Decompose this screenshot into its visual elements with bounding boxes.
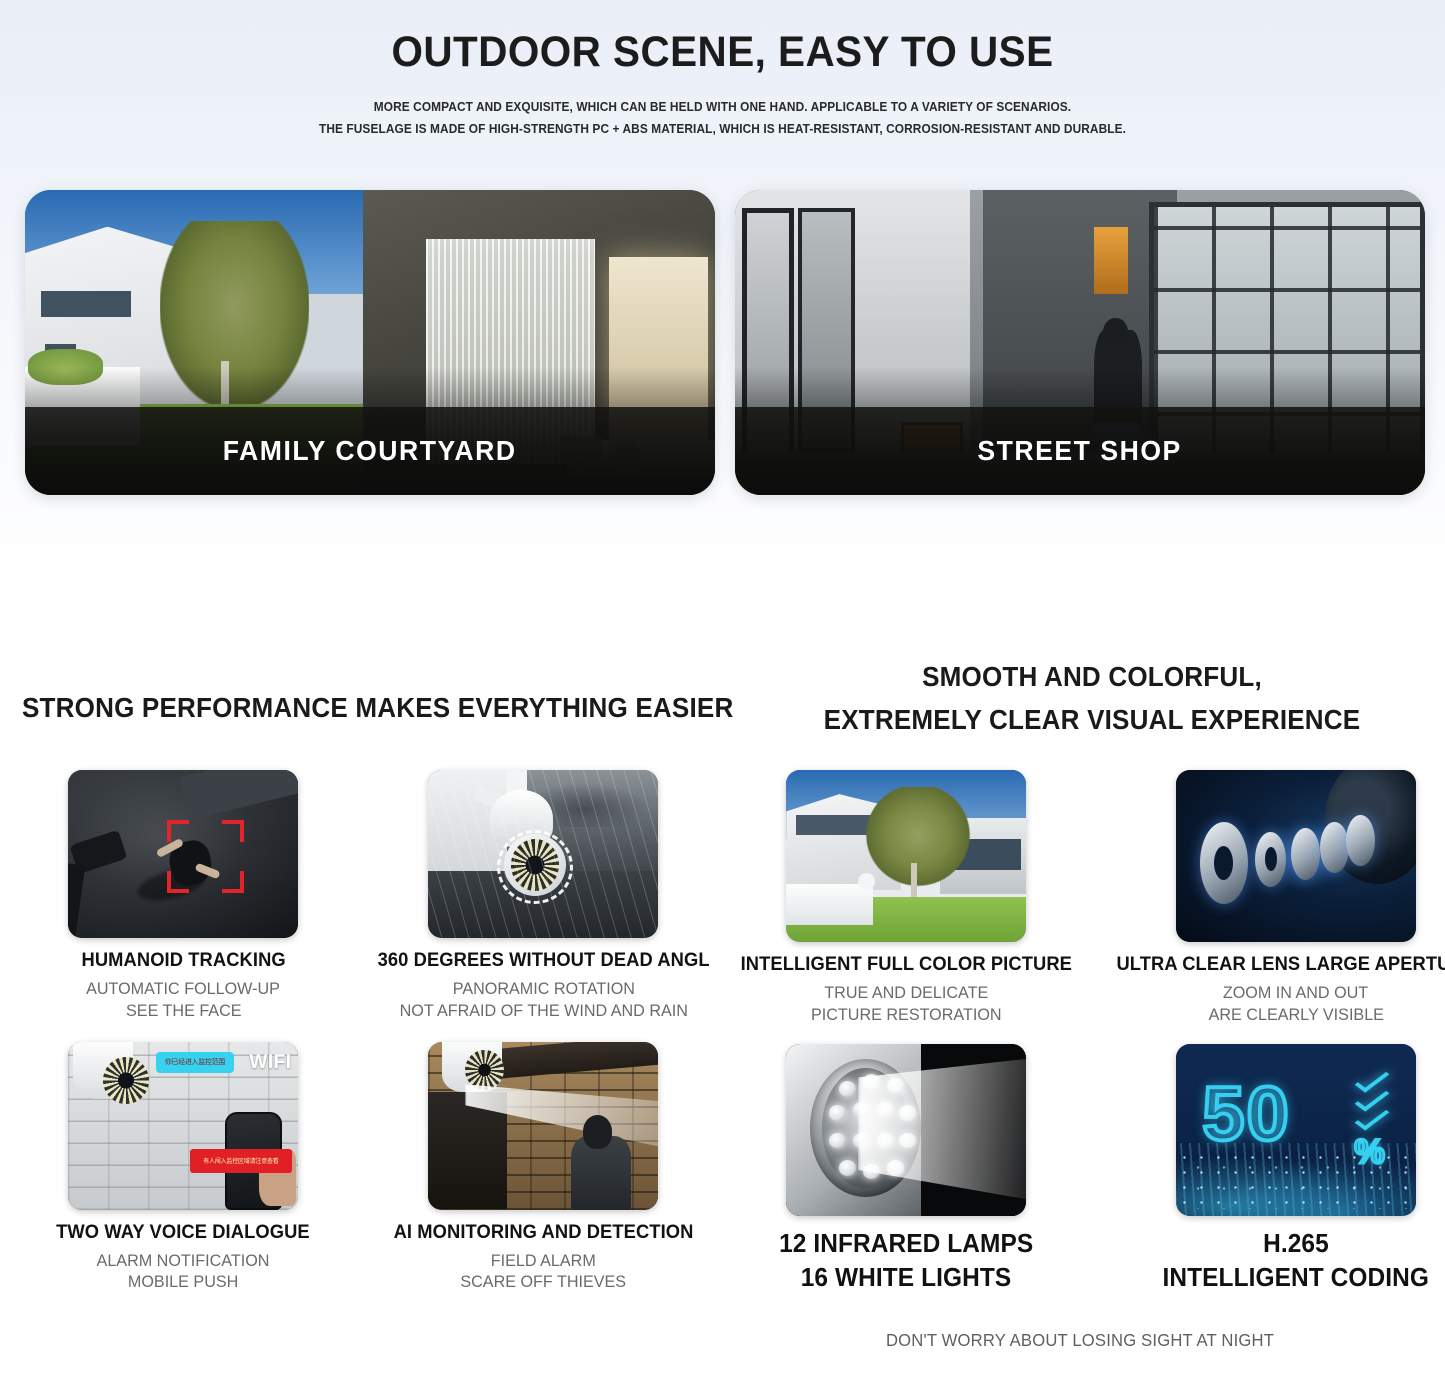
feature-title-line-1: H.265 xyxy=(1263,1227,1329,1260)
feature-subtitle-line-2: NOT AFRAID OF THE WIND AND RAIN xyxy=(399,1000,687,1022)
chevron-down-icon xyxy=(1357,1111,1387,1124)
pedestrian-head xyxy=(1103,318,1128,345)
two-way-voice-thumbnail: 你已经进入监控范围 WIFI 有人闯入监控区域请注意查看 xyxy=(68,1042,298,1210)
hero-scene-row: FAMILY COURTYARD xyxy=(0,190,1445,500)
h265-coding-thumbnail: 50 % xyxy=(1176,1044,1416,1216)
tiled-wall-backdrop: 你已经进入监控范围 WIFI 有人闯入监控区域请注意查看 xyxy=(68,1042,298,1210)
alarm-notification-banner: 有人闯入监控区域请注意查看 xyxy=(190,1149,291,1173)
subtitle-line-1: MORE COMPACT AND EXQUISITE, WHICH CAN BE… xyxy=(36,97,1409,119)
feature-h265-coding: 50 % H.265 INTELLIGENT CODING xyxy=(1105,1044,1445,1294)
feature-title: ULTRA CLEAR LENS LARGE APERTURE xyxy=(1116,953,1445,976)
humanoid-tracking-thumbnail xyxy=(68,770,298,938)
page-title: OUTDOOR SCENE, EASY TO USE xyxy=(43,28,1401,77)
percent-symbol: % xyxy=(1354,1133,1384,1172)
chevron-down-icon xyxy=(1357,1092,1387,1105)
feature-ultra-clear-lens: ULTRA CLEAR LENS LARGE APERTURE ZOOM IN … xyxy=(1105,770,1445,1026)
chevron-down-icon xyxy=(1357,1073,1387,1086)
full-color-house-thumbnail xyxy=(786,770,1026,942)
left-feature-grid: HUMANOID TRACKING AUTOMATIC FOLLOW-UP SE… xyxy=(30,770,720,1293)
right-section-title: SMOOTH AND COLORFUL, EXTREMELY CLEAR VIS… xyxy=(767,655,1418,742)
speech-bubble-text: 你已经进入监控范围 xyxy=(156,1052,234,1074)
feature-subtitle-line-1: AUTOMATIC FOLLOW-UP xyxy=(86,978,280,1000)
wifi-label: WIFI xyxy=(249,1052,291,1074)
led-lamp-scene xyxy=(786,1044,1026,1216)
speech-bubble: 你已经进入监控范围 xyxy=(156,1052,234,1074)
feature-subtitle-line-1: ALARM NOTIFICATION xyxy=(97,1250,270,1272)
page-subtitle: MORE COMPACT AND EXQUISITE, WHICH CAN BE… xyxy=(0,97,1445,141)
right-section-title-line-1: SMOOTH AND COLORFUL, xyxy=(767,655,1418,698)
right-feature-grid: INTELLIGENT FULL COLOR PICTURE TRUE AND … xyxy=(730,770,1430,1294)
hero-caption-text: STREET SHOP xyxy=(978,435,1182,467)
page-header: OUTDOOR SCENE, EASY TO USE MORE COMPACT … xyxy=(0,28,1445,141)
night-vision-footnote: DON'T WORRY ABOUT LOSING SIGHT AT NIGHT xyxy=(748,1330,1413,1351)
feature-subtitle-line-2: PICTURE RESTORATION xyxy=(811,1004,1002,1026)
rain-streaks xyxy=(428,770,658,938)
feature-title-line-2: 16 WHITE LIGHTS xyxy=(801,1261,1012,1294)
lens-exploded-diagram xyxy=(1176,770,1416,942)
hero-caption-text: FAMILY COURTYARD xyxy=(223,435,517,467)
lens-element-5 xyxy=(1346,815,1375,867)
subtitle-line-2: THE FUSELAGE IS MADE OF HIGH-STRENGTH PC… xyxy=(36,119,1409,141)
feature-title: HUMANOID TRACKING xyxy=(81,949,285,972)
feature-360-degrees: 360 DEGREES WITHOUT DEAD ANGL PANORAMIC … xyxy=(367,770,720,1022)
feature-title-line-1: 12 INFRARED LAMPS xyxy=(779,1227,1033,1260)
product-feature-page: OUTDOOR SCENE, EASY TO USE MORE COMPACT … xyxy=(0,0,1445,1380)
feature-infrared-lamps: 12 INFRARED LAMPS 16 WHITE LIGHTS xyxy=(730,1044,1083,1294)
alarm-banner-text: 有人闯入监控区域请注意查看 xyxy=(203,1156,278,1165)
feature-subtitle-line-1: PANORAMIC ROTATION xyxy=(452,978,634,1000)
hanging-lamp xyxy=(1094,227,1129,294)
led-lamp xyxy=(839,1160,856,1175)
feature-subtitle-line-2: MOBILE PUSH xyxy=(128,1271,238,1293)
tracking-bracket-top-right-icon xyxy=(222,820,244,842)
feature-humanoid-tracking: HUMANOID TRACKING AUTOMATIC FOLLOW-UP SE… xyxy=(30,770,337,1022)
hero-caption-bar: FAMILY COURTYARD xyxy=(25,407,715,495)
tracking-bracket-bottom-right-icon xyxy=(222,871,244,893)
feature-subtitle-line-1: ZOOM IN AND OUT xyxy=(1223,982,1368,1004)
infrared-lamps-thumbnail xyxy=(786,1044,1026,1216)
tree-canopy xyxy=(160,221,309,410)
lens-element-3 xyxy=(1291,828,1320,880)
garden-wall xyxy=(786,884,872,925)
feature-subtitle-line-1: TRUE AND DELICATE xyxy=(824,982,988,1004)
hero-card-street-shop: STREET SHOP xyxy=(735,190,1425,495)
feature-title: 360 DEGREES WITHOUT DEAD ANGL xyxy=(377,949,709,972)
feature-subtitle-line-2: ARE CLEARLY VISIBLE xyxy=(1208,1004,1383,1026)
left-section-title: STRONG PERFORMANCE MAKES EVERYTHING EASI… xyxy=(22,692,733,724)
brick-wall-backdrop xyxy=(428,1042,658,1210)
data-wave-scene: 50 % xyxy=(1176,1044,1416,1216)
ptz-camera-rain-thumbnail xyxy=(428,770,658,938)
camera-led-ring-icon xyxy=(103,1057,149,1104)
hedge xyxy=(28,349,102,386)
lens-assembly-thumbnail xyxy=(1176,770,1416,942)
hero-caption-bar: STREET SHOP xyxy=(735,407,1425,495)
feature-full-color-picture: INTELLIGENT FULL COLOR PICTURE TRUE AND … xyxy=(730,770,1083,1026)
feature-subtitle-line-1: FIELD ALARM xyxy=(491,1250,596,1272)
feature-subtitle-line-2: SCARE OFF THIEVES xyxy=(461,1271,627,1293)
tree-canopy xyxy=(865,787,971,887)
feature-ai-monitoring: AI MONITORING AND DETECTION FIELD ALARM … xyxy=(367,1042,720,1294)
feature-title: AI MONITORING AND DETECTION xyxy=(393,1221,693,1244)
compression-number: 50 xyxy=(1202,1071,1291,1158)
led-lamp xyxy=(839,1081,856,1096)
lens-element-4 xyxy=(1320,822,1349,874)
rain-scene-backdrop xyxy=(428,770,658,938)
feature-title: TWO WAY VOICE DIALOGUE xyxy=(57,1221,311,1244)
lens-aperture-2 xyxy=(1265,847,1277,871)
feature-title-line-2: INTELLIGENT CODING xyxy=(1163,1261,1429,1294)
feature-two-way-voice: 你已经进入监控范围 WIFI 有人闯入监控区域请注意查看 TWO WAY VOI… xyxy=(30,1042,337,1294)
hero-card-family-courtyard: FAMILY COURTYARD xyxy=(25,190,715,495)
feature-title: INTELLIGENT FULL COLOR PICTURE xyxy=(741,953,1072,976)
tracking-bracket-top-left-icon xyxy=(167,820,189,842)
daylight-house-scene xyxy=(786,770,1026,942)
intruder-head xyxy=(583,1115,613,1149)
feature-subtitle-line-2: SEE THE FACE xyxy=(126,1000,241,1022)
tracking-bracket-bottom-left-icon xyxy=(167,871,189,893)
ai-monitoring-thumbnail xyxy=(428,1042,658,1210)
led-lamp xyxy=(829,1105,846,1120)
window-strip xyxy=(41,291,131,317)
right-section-title-line-2: EXTREMELY CLEAR VISUAL EXPERIENCE xyxy=(767,698,1418,741)
